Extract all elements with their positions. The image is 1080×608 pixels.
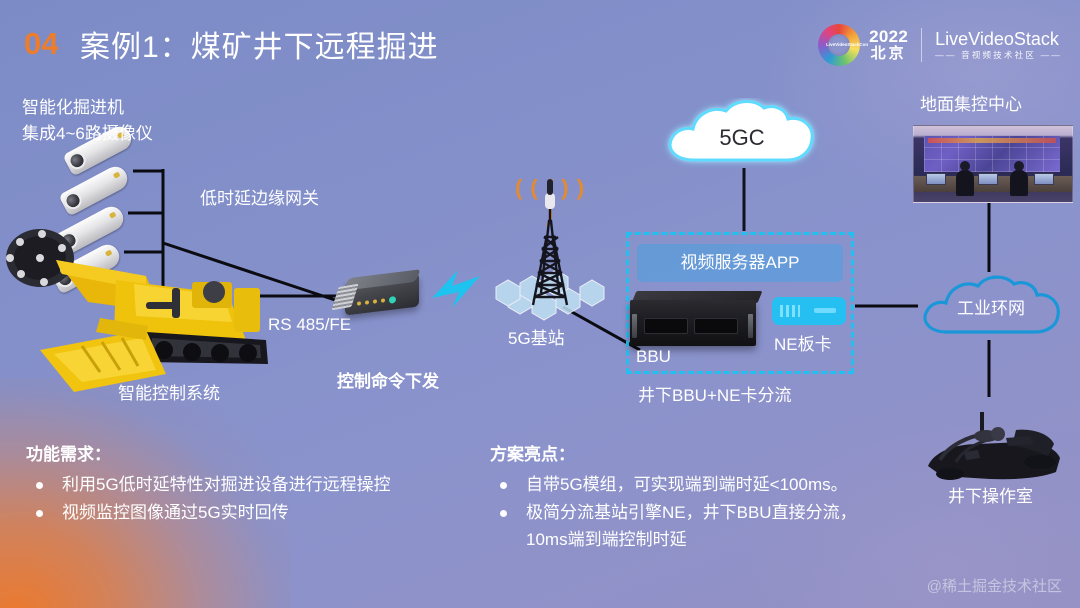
functional-requirements-list: 利用5G低时延特性对掘进设备进行远程操控 视频监控图像通过5G实时回传: [26, 471, 466, 526]
base-station-label: 5G基站: [508, 328, 565, 351]
list-item: 极简分流基站引擎NE，井下BBU直接分流， 10ms端到端控制时延: [490, 499, 900, 554]
seated-operator: [956, 170, 974, 196]
video-server-app-bar: 视频服务器APP: [637, 244, 843, 282]
industrial-ring-network-cloud: 工业环网: [913, 270, 1065, 342]
ne-card-ports: [780, 305, 800, 317]
seated-operator: [1010, 170, 1028, 196]
bbu-label: BBU: [636, 346, 671, 369]
camera-unit: [58, 163, 131, 217]
bbu-rack-ear: [748, 314, 753, 338]
brand-tagline: —— 音视频技术社区 ——: [935, 51, 1062, 61]
cloud-5gc-label: 5GC: [719, 125, 764, 150]
brand-year-city: 2022 北京: [869, 28, 908, 62]
edge-gateway-device: [333, 272, 423, 324]
5gc-cloud: 5GC: [660, 98, 830, 168]
video-wall-banner: [928, 138, 1056, 143]
bbu-drive-bay: [644, 318, 688, 334]
bbu-drive-bay: [694, 318, 738, 334]
livevideostackcon-ring-icon: LiveVideoStackCon: [818, 24, 860, 66]
wireless-lightning-icon: [428, 268, 484, 312]
control-center-label: 地面集控中心: [920, 94, 1022, 117]
page-title: 案例1：煤矿井下远程掘进: [80, 22, 439, 66]
slide-canvas: 04 案例1：煤矿井下远程掘进 LiveVideoStackCon 2022 北…: [0, 0, 1080, 608]
console-chair: [928, 412, 1060, 480]
desk-monitor: [1034, 173, 1054, 185]
functional-requirements-block: 功能需求： 利用5G低时延特性对掘进设备进行远程操控 视频监控图像通过5G实时回…: [26, 440, 466, 526]
watermark: @稀土掘金技术社区: [927, 575, 1062, 596]
edge-gateway-label: 低时延边缘网关: [200, 188, 319, 211]
machine-label-line2: 集成4~6路摄像仪: [22, 123, 153, 146]
list-item: 利用5G低时延特性对掘进设备进行远程操控: [26, 471, 466, 499]
list-item: 视频监控图像通过5G实时回传: [26, 499, 466, 527]
surface-control-center-photo: [913, 125, 1073, 203]
solution-highlights-heading: 方案亮点：: [490, 440, 900, 465]
brand-city: 北京: [869, 46, 908, 62]
list-item: 自带5G模组，可实现端到端时延<100ms。: [490, 471, 900, 499]
ne-card-slot: [814, 308, 836, 313]
brand-year: 2022: [869, 28, 908, 46]
solution-highlights-list: 自带5G模组，可实现端到端时延<100ms。 极简分流基站引擎NE，井下BBU直…: [490, 471, 900, 554]
ne-card-label: NE板卡: [774, 334, 832, 357]
brand-logo-group: LiveVideoStackCon 2022 北京 LiveVideoStack…: [818, 22, 1062, 68]
roadheader-machine-illustration: [0, 222, 296, 397]
tower-antenna: [545, 193, 555, 209]
ring-logo-text: LiveVideoStackCon: [826, 42, 852, 48]
operator-room-label: 井下操作室: [948, 486, 1033, 509]
dashbox-caption: 井下BBU+NE卡分流: [638, 385, 792, 408]
brand-livevideostack: LiveVideoStack —— 音视频技术社区 ——: [935, 29, 1062, 61]
control-command-label: 控制命令下发: [337, 371, 439, 394]
industrial-network-label: 工业环网: [957, 299, 1025, 318]
bbu-server-device: [630, 288, 763, 350]
section-number: 04: [24, 26, 58, 62]
brand-product-name: LiveVideoStack: [935, 29, 1062, 49]
desk-monitor: [978, 173, 998, 185]
5g-base-station-tower: [495, 175, 605, 330]
brand-divider: [921, 28, 922, 62]
brand-product-name-text: LiveVideoStack: [935, 29, 1059, 49]
solution-highlights-block: 方案亮点： 自带5G模组，可实现端到端时延<100ms。 极简分流基站引擎NE，…: [490, 440, 900, 554]
control-system-label: 智能控制系统: [118, 383, 220, 406]
ne-board-card-icon: [772, 297, 846, 325]
desk-monitor: [926, 173, 946, 185]
video-server-app-label: 视频服务器APP: [637, 244, 843, 282]
cutter-head: [6, 229, 74, 287]
underground-operator-console-photo: [920, 400, 1066, 484]
bbu-rack-ear: [632, 314, 637, 338]
functional-requirements-heading: 功能需求：: [26, 440, 466, 465]
machine-label-line1: 智能化掘进机: [22, 97, 124, 120]
